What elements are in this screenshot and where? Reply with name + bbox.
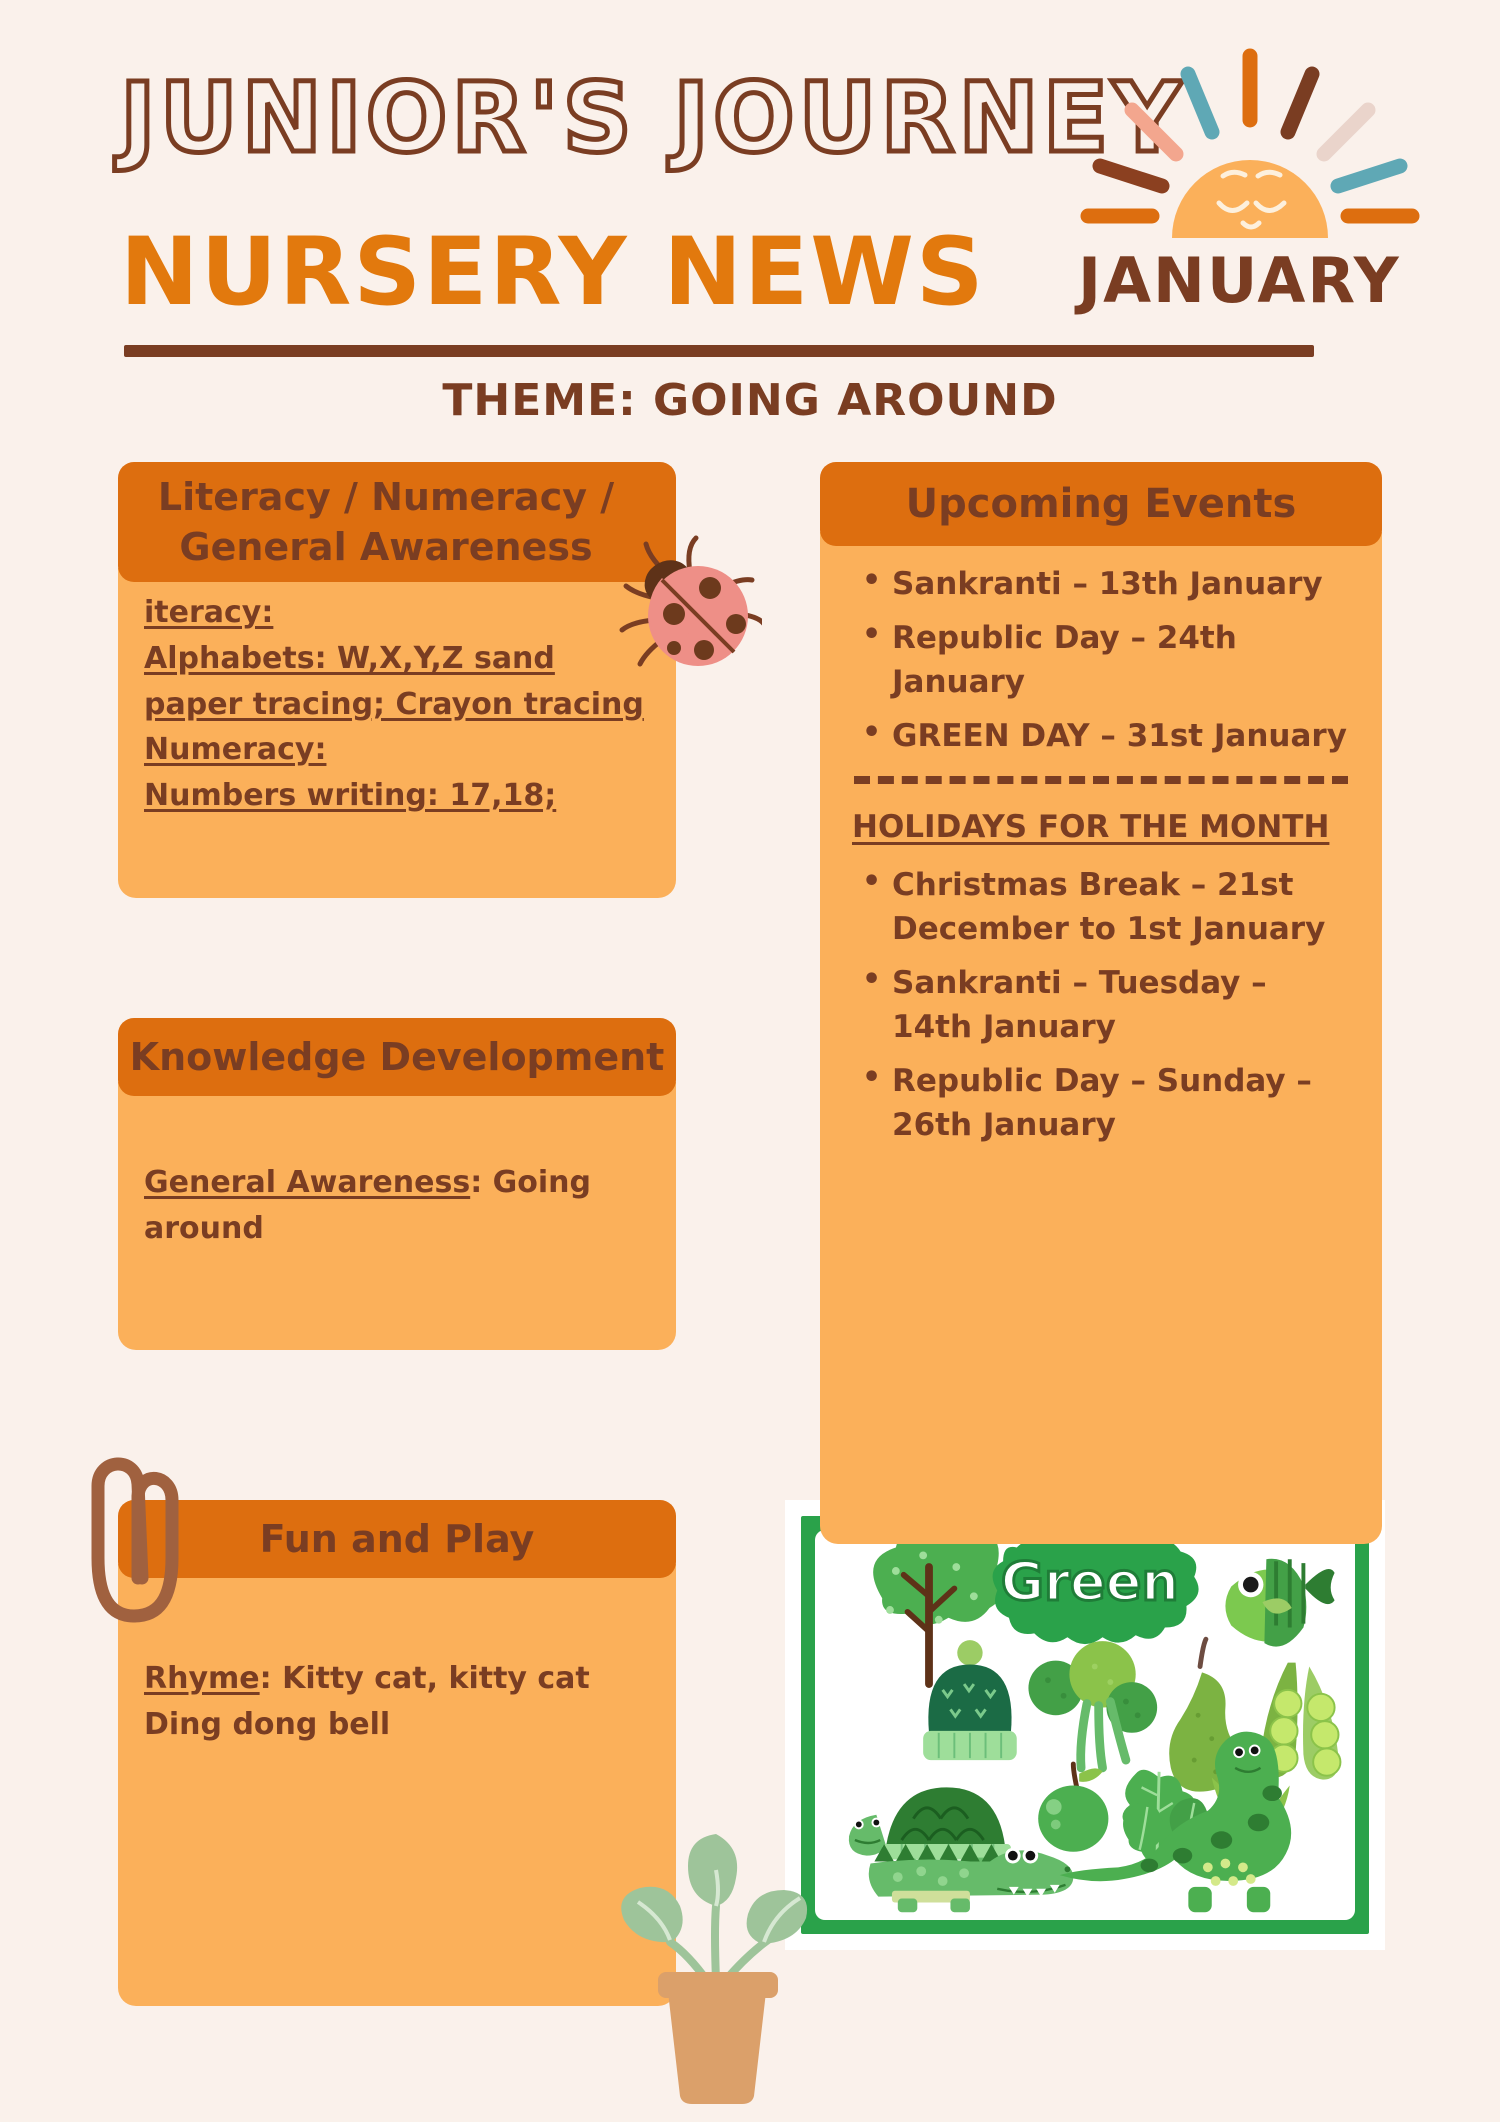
knowledge-label: General Awareness [144,1165,470,1200]
card-literacy-title: Literacy / Numeracy / General Awareness [118,462,676,582]
holidays-list: Christmas Break – 21st December to 1st J… [850,863,1352,1147]
events-list: Sankranti – 13th January Republic Day – … [850,562,1352,758]
poster-label: Green [1001,1552,1179,1613]
green-poster: Green [785,1500,1385,1950]
newsletter-page: JUNIOR'S JOURNEY NURSERY NEWS JANUARY TH… [0,0,1500,2122]
poster-canvas: Green [815,1530,1355,1920]
list-item: Republic Day – 24th January [850,616,1352,704]
paperclip-icon [88,1440,228,1640]
broccoli-icon [1028,1641,1157,1768]
list-item: Republic Day – Sunday – 26th January [850,1059,1352,1147]
rhyme-value: : Kitty cat, kitty cat [260,1661,590,1696]
green-label-blob: Green [993,1535,1199,1644]
tree-icon [873,1530,1006,1684]
apple-icon [1038,1764,1108,1852]
winter-hat-icon [923,1640,1017,1760]
list-item: GREEN DAY – 31st January [850,714,1352,758]
literacy-line: Numbers writing: 17,18; [144,773,650,819]
literacy-line: Numeracy: [144,727,650,773]
holidays-heading: HOLIDAYS FOR THE MONTH [852,804,1352,851]
card-literacy-body: iteracy: Alphabets: W,X,Y,Z sand paper t… [118,568,676,898]
list-item: Sankranti – 13th January [850,562,1352,606]
sun-icon [1080,48,1420,248]
ladybug-icon [612,528,762,678]
theme-label: THEME: GOING AROUND [0,375,1500,426]
literacy-line: iteracy: [144,590,650,636]
literacy-line: Alphabets: W,X,Y,Z sand paper tracing; C… [144,636,650,727]
card-literacy: Literacy / Numeracy / General Awareness … [118,462,676,898]
card-upcoming-events: Upcoming Events Sankranti – 13th January… [820,462,1382,1544]
page-header: JUNIOR'S JOURNEY NURSERY NEWS JANUARY TH… [0,0,1500,400]
page-title-main: NURSERY NEWS [120,218,986,327]
card-knowledge-title: Knowledge Development [118,1018,676,1096]
list-item: Sankranti – Tuesday – 14th January [850,961,1352,1049]
list-item: Christmas Break – 21st December to 1st J… [850,863,1352,951]
poster-border: Green [801,1516,1369,1934]
rhyme-label: Rhyme [144,1661,260,1696]
header-divider [124,345,1314,357]
card-events-body: Sankranti – 13th January Republic Day – … [820,532,1382,1544]
card-knowledge-body: General Awareness: Going around [118,1082,676,1350]
potted-plant-icon [612,1810,822,2120]
page-title-outline: JUNIOR'S JOURNEY [120,62,1186,174]
fish-icon [1225,1559,1334,1647]
card-events-title: Upcoming Events [820,462,1382,546]
card-knowledge-development: Knowledge Development General Awareness:… [118,1018,676,1350]
rhyme-line-2: Ding dong bell [144,1702,650,1748]
issue-month: JANUARY [1078,244,1401,317]
section-divider [854,776,1348,784]
